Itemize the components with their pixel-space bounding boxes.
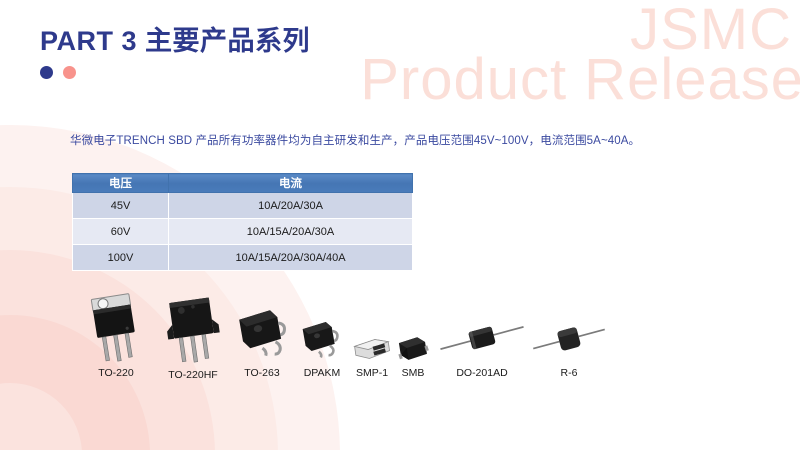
decorative-dots: [40, 66, 310, 79]
cell-current: 10A/15A/20A/30A/40A: [169, 245, 413, 271]
package-item-to220: TO-220: [78, 290, 154, 379]
package-item-r6: R-6: [530, 312, 608, 379]
package-label: R-6: [530, 367, 608, 379]
table-row: 45V 10A/20A/30A: [73, 193, 413, 219]
cell-current: 10A/15A/20A/30A: [169, 219, 413, 245]
table-row: 60V 10A/15A/20A/30A: [73, 219, 413, 245]
package-item-dpakm: DPAKM: [295, 316, 349, 379]
slide-header: PART 3 主要产品系列: [40, 28, 310, 79]
pink-dot-icon: [63, 66, 76, 79]
watermark-jsmc: JSMC: [630, 0, 792, 63]
page-title: PART 3 主要产品系列: [40, 28, 310, 55]
cell-voltage: 60V: [73, 219, 169, 245]
package-item-do201ad: DO-201AD: [437, 310, 527, 379]
package-label: SMB: [392, 367, 434, 379]
smb-package-icon: [392, 332, 434, 366]
package-label: TO-263: [230, 367, 294, 379]
navy-dot-icon: [40, 66, 53, 79]
package-label: DPAKM: [295, 367, 349, 379]
package-label: TO-220HF: [156, 369, 230, 381]
package-item-smp1: SMP-1: [348, 330, 396, 379]
to220hf-package-icon: [156, 292, 230, 368]
cell-voltage: 100V: [73, 245, 169, 271]
package-gallery: TO-220 TO-220HF: [0, 290, 800, 400]
column-header-voltage: 电压: [73, 174, 169, 193]
cell-current: 10A/20A/30A: [169, 193, 413, 219]
to263-package-icon: [230, 302, 294, 366]
table-row: 100V 10A/15A/20A/30A/40A: [73, 245, 413, 271]
package-label: SMP-1: [348, 367, 396, 379]
intro-paragraph: 华微电子TRENCH SBD 产品所有功率器件均为自主研发和生产，产品电压范围4…: [70, 132, 640, 148]
package-label: DO-201AD: [437, 367, 527, 379]
spec-table: 电压 电流 45V 10A/20A/30A 60V 10A/15A/20A/30…: [72, 173, 413, 271]
package-item-smb: SMB: [392, 332, 434, 379]
do201ad-diode-icon: [437, 310, 527, 366]
dpakm-package-icon: [295, 316, 349, 366]
package-item-to263: TO-263: [230, 302, 294, 379]
column-header-current: 电流: [169, 174, 413, 193]
to220-package-icon: [78, 290, 154, 366]
package-item-to220hf: TO-220HF: [156, 292, 230, 381]
smp1-package-icon: [348, 330, 396, 366]
table-header-row: 电压 电流: [73, 174, 413, 193]
r6-diode-icon: [530, 312, 608, 366]
package-label: TO-220: [78, 367, 154, 379]
watermark-product-release: Product Release: [360, 46, 800, 113]
cell-voltage: 45V: [73, 193, 169, 219]
